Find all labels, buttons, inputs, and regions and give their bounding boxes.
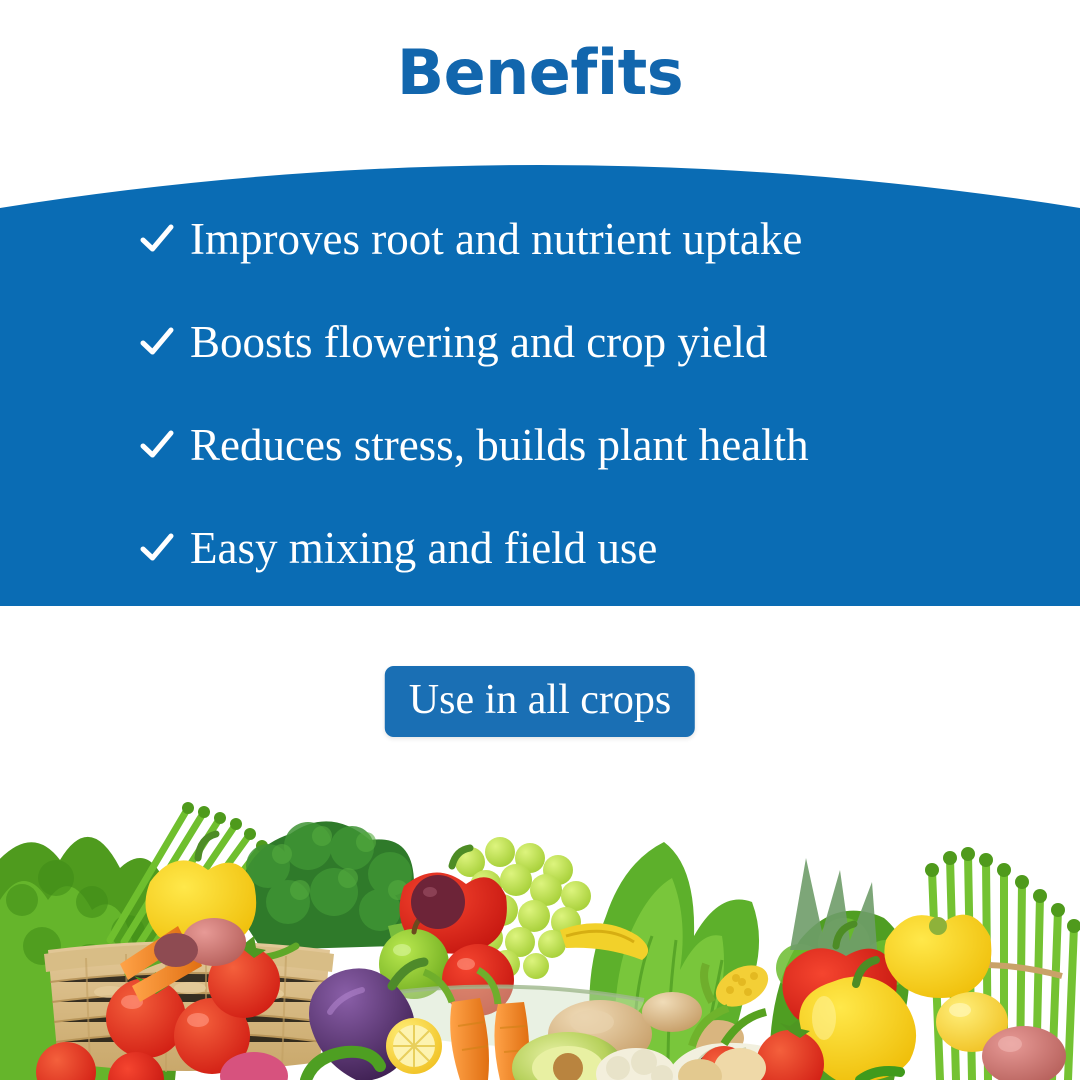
benefits-infographic: Benefits Improves root and nutrient upta… [0, 0, 1080, 1080]
lemon-half [386, 1018, 442, 1074]
benefit-label: Easy mixing and field use [190, 526, 657, 571]
status-badge: Use in all crops [385, 666, 695, 737]
check-icon [140, 428, 174, 462]
list-item: Reduces stress, builds plant health [140, 423, 809, 468]
list-item: Boosts flowering and crop yield [140, 320, 767, 365]
check-icon [140, 325, 174, 359]
check-icon [140, 531, 174, 565]
produce-photo [0, 750, 1080, 1080]
list-item: Easy mixing and field use [140, 526, 657, 571]
page-title: Benefits [0, 42, 1080, 104]
benefit-label: Reduces stress, builds plant health [190, 423, 809, 468]
benefits-list: Improves root and nutrient uptake Boosts… [0, 140, 1080, 606]
benefit-label: Boosts flowering and crop yield [190, 320, 767, 365]
benefit-label: Improves root and nutrient uptake [190, 217, 802, 262]
list-item: Improves root and nutrient uptake [140, 217, 802, 262]
plum [411, 875, 465, 929]
check-icon [140, 222, 174, 256]
vegetables-illustration [0, 750, 1080, 1080]
